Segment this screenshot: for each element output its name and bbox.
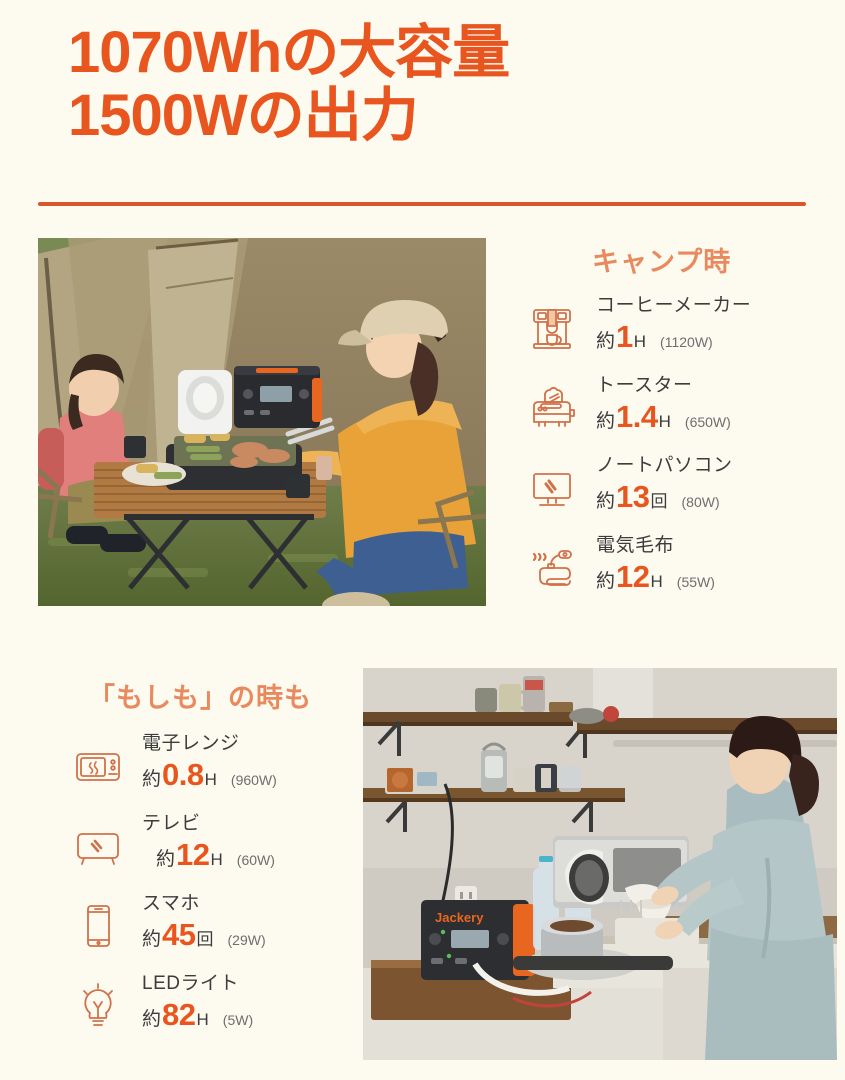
value-unit: H — [659, 412, 671, 432]
value-number: 0.8 — [161, 759, 205, 790]
appliance-name: テレビ — [142, 812, 382, 836]
list-item: 電子レンジ 約 0.8 H (960W) — [62, 730, 382, 810]
camping-photo — [38, 238, 486, 606]
wattage-label: (650W) — [685, 414, 731, 430]
headline-line-1: 1070Whの大容量 — [68, 22, 808, 85]
value-number: 1 — [615, 321, 634, 352]
value-number: 13 — [615, 481, 650, 512]
wattage-label: (55W) — [677, 574, 715, 590]
appliance-name: LEDライト — [142, 972, 382, 996]
svg-text:Jackery: Jackery — [435, 910, 484, 925]
value-unit: H — [205, 770, 217, 790]
list-item: ノートパソコン 約 13 回 (80W) — [516, 452, 836, 532]
camping-section-title: キャンプ時 — [592, 240, 731, 279]
emergency-appliance-list: 電子レンジ 約 0.8 H (960W) テレビ — [62, 730, 382, 1050]
value-unit: H — [651, 572, 663, 592]
wattage-label: (80W) — [682, 494, 720, 510]
approx-label: 約 — [596, 326, 615, 353]
value-number: 12 — [615, 561, 650, 592]
camping-appliance-list: コーヒーメーカー 約 1 H (1120W) — [516, 292, 836, 612]
television-icon — [62, 810, 134, 882]
wattage-label: (29W) — [228, 932, 266, 948]
wattage-label: (1120W) — [660, 334, 713, 350]
appliance-name: ノートパソコン — [596, 454, 836, 478]
laptop-monitor-icon — [516, 452, 588, 524]
headline-line-2: 1500Wの出力 — [68, 85, 808, 148]
coffee-maker-icon — [516, 292, 588, 364]
value-number: 82 — [161, 999, 196, 1030]
value-unit: H — [197, 1010, 209, 1030]
light-bulb-icon — [62, 970, 134, 1042]
emergency-section-title: 「もしも」の時も — [88, 676, 312, 715]
value-unit: 回 — [197, 925, 214, 950]
page-headline: 1070Whの大容量 1500Wの出力 — [68, 22, 808, 147]
value-number: 45 — [161, 919, 196, 950]
appliance-name: トースター — [596, 374, 836, 398]
value-number: 1.4 — [615, 401, 659, 432]
smartphone-icon — [62, 890, 134, 962]
approx-label: 約 — [596, 566, 615, 593]
value-unit: H — [634, 332, 646, 352]
list-item: トースター 約 1.4 H (650W) — [516, 372, 836, 452]
appliance-value: 約 0.8 H (960W) — [142, 759, 382, 791]
value-unit: H — [211, 850, 223, 870]
appliance-name: スマホ — [142, 892, 382, 916]
microwave-icon — [62, 730, 134, 802]
approx-label: 約 — [142, 764, 161, 791]
list-item: コーヒーメーカー 約 1 H (1120W) — [516, 292, 836, 372]
list-item: 電気毛布 約 12 H (55W) — [516, 532, 836, 612]
appliance-value: 約 45 回 (29W) — [142, 919, 382, 951]
wattage-label: (5W) — [223, 1012, 253, 1028]
value-unit: 回 — [651, 487, 668, 512]
appliance-value: 約 12 H (55W) — [596, 561, 836, 593]
appliance-value: 約 12 H (60W) — [142, 839, 382, 871]
approx-label: 約 — [596, 406, 615, 433]
appliance-name: コーヒーメーカー — [596, 294, 836, 318]
electric-blanket-icon — [516, 532, 588, 604]
appliance-value: 約 13 回 (80W) — [596, 481, 836, 513]
approx-label: 約 — [156, 844, 175, 871]
list-item: スマホ 約 45 回 (29W) — [62, 890, 382, 970]
list-item: テレビ 約 12 H (60W) — [62, 810, 382, 890]
appliance-name: 電子レンジ — [142, 732, 382, 756]
kitchen-emergency-photo: Jackery — [363, 668, 837, 1060]
appliance-value: 約 1.4 H (650W) — [596, 401, 836, 433]
list-item: LEDライト 約 82 H (5W) — [62, 970, 382, 1050]
toaster-icon — [516, 372, 588, 444]
approx-label: 約 — [596, 486, 615, 513]
approx-label: 約 — [142, 1004, 161, 1031]
appliance-value: 約 1 H (1120W) — [596, 321, 836, 353]
wattage-label: (60W) — [237, 852, 275, 868]
appliance-name: 電気毛布 — [596, 534, 836, 558]
value-number: 12 — [175, 839, 210, 870]
wattage-label: (960W) — [231, 772, 277, 788]
appliance-value: 約 82 H (5W) — [142, 999, 382, 1031]
approx-label: 約 — [142, 924, 161, 951]
product-spec-page: 1070Whの大容量 1500Wの出力 — [0, 0, 845, 1080]
headline-divider — [38, 202, 806, 206]
